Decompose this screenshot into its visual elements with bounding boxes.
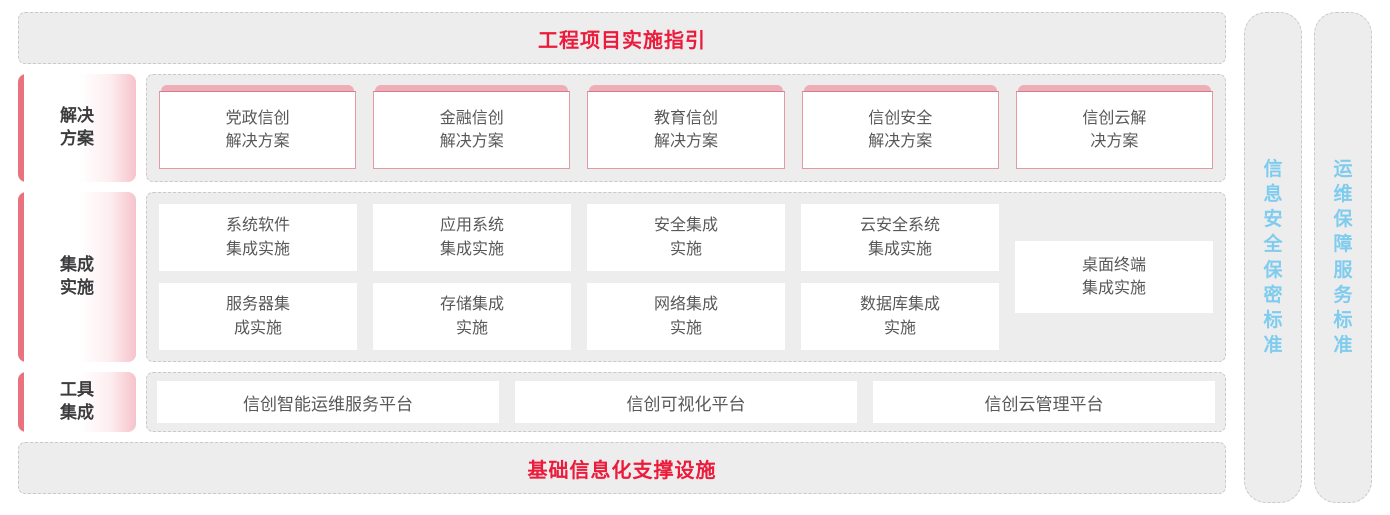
solution-card[interactable]: 金融信创 解决方案: [373, 85, 570, 169]
integration-panel: 系统软件 集成实施 服务器集 成实施 应用系统 集成实施 存储集成 实施 安全集…: [146, 192, 1226, 362]
solution-card-label: 信创安全 解决方案: [802, 91, 999, 169]
integration-column: 系统软件 集成实施 服务器集 成实施: [159, 204, 357, 350]
integration-card[interactable]: 应用系统 集成实施: [373, 204, 571, 271]
integration-column: 应用系统 集成实施 存储集成 实施: [373, 204, 571, 350]
footer-banner: 基础信息化支撑设施: [18, 442, 1226, 494]
row-label-integration: 集成 实施: [18, 192, 136, 362]
integration-card[interactable]: 存储集成 实施: [373, 283, 571, 350]
row-label-tools-text: 工具 集成: [60, 379, 94, 425]
diagram-root: 工程项目实施指引 解决 方案 党政信创 解决方案 金融信创 解决方案 教育信创 …: [0, 0, 1390, 515]
row-label-solutions-text: 解决 方案: [60, 105, 94, 151]
tools-panel: 信创智能运维服务平台 信创可视化平台 信创云管理平台: [146, 372, 1226, 432]
tool-card[interactable]: 信创可视化平台: [515, 381, 857, 423]
integration-column: 安全集成 实施 网络集成 实施: [587, 204, 785, 350]
header-banner: 工程项目实施指引: [18, 12, 1226, 64]
main-column: 工程项目实施指引 解决 方案 党政信创 解决方案 金融信创 解决方案 教育信创 …: [0, 0, 1244, 515]
page-title: 工程项目实施指引: [538, 24, 706, 53]
solution-card[interactable]: 信创云解 决方案: [1016, 85, 1213, 169]
tool-card[interactable]: 信创智能运维服务平台: [157, 381, 499, 423]
row-solutions: 解决 方案 党政信创 解决方案 金融信创 解决方案 教育信创 解决方案 信创安全…: [18, 74, 1226, 182]
solutions-panel: 党政信创 解决方案 金融信创 解决方案 教育信创 解决方案 信创安全 解决方案 …: [146, 74, 1226, 182]
row-tools: 工具 集成 信创智能运维服务平台 信创可视化平台 信创云管理平台: [18, 372, 1226, 432]
solution-card-label: 党政信创 解决方案: [159, 91, 356, 169]
sidebar-security-standard[interactable]: 信息安全保密标准: [1244, 12, 1302, 503]
solution-card-label: 金融信创 解决方案: [373, 91, 570, 169]
solution-card[interactable]: 党政信创 解决方案: [159, 85, 356, 169]
tool-card[interactable]: 信创云管理平台: [873, 381, 1215, 423]
sidebar-ops-standard[interactable]: 运维保障服务标准: [1314, 12, 1372, 503]
integration-column: 云安全系统 集成实施 数据库集成 实施: [801, 204, 999, 350]
row-label-solutions: 解决 方案: [18, 74, 136, 182]
row-label-integration-text: 集成 实施: [60, 254, 94, 300]
row-label-tools: 工具 集成: [18, 372, 136, 432]
integration-card[interactable]: 数据库集成 实施: [801, 283, 999, 350]
integration-card[interactable]: 云安全系统 集成实施: [801, 204, 999, 271]
solution-card-label: 教育信创 解决方案: [587, 91, 784, 169]
sidebar-column: 信息安全保密标准 运维保障服务标准: [1244, 0, 1390, 515]
sidebar-security-standard-label: 信息安全保密标准: [1262, 157, 1284, 358]
integration-card[interactable]: 安全集成 实施: [587, 204, 785, 271]
integration-card[interactable]: 系统软件 集成实施: [159, 204, 357, 271]
sidebar-ops-standard-label: 运维保障服务标准: [1332, 157, 1354, 358]
integration-card[interactable]: 网络集成 实施: [587, 283, 785, 350]
integration-card[interactable]: 服务器集 成实施: [159, 283, 357, 350]
solution-card[interactable]: 教育信创 解决方案: [587, 85, 784, 169]
row-integration: 集成 实施 系统软件 集成实施 服务器集 成实施 应用系统 集成实施 存储集成 …: [18, 192, 1226, 362]
solution-card[interactable]: 信创安全 解决方案: [802, 85, 999, 169]
integration-card[interactable]: 桌面终端 集成实施: [1015, 241, 1213, 313]
footer-title: 基础信息化支撑设施: [528, 454, 717, 483]
solution-card-label: 信创云解 决方案: [1016, 91, 1213, 169]
integration-column: 桌面终端 集成实施: [1015, 204, 1213, 350]
